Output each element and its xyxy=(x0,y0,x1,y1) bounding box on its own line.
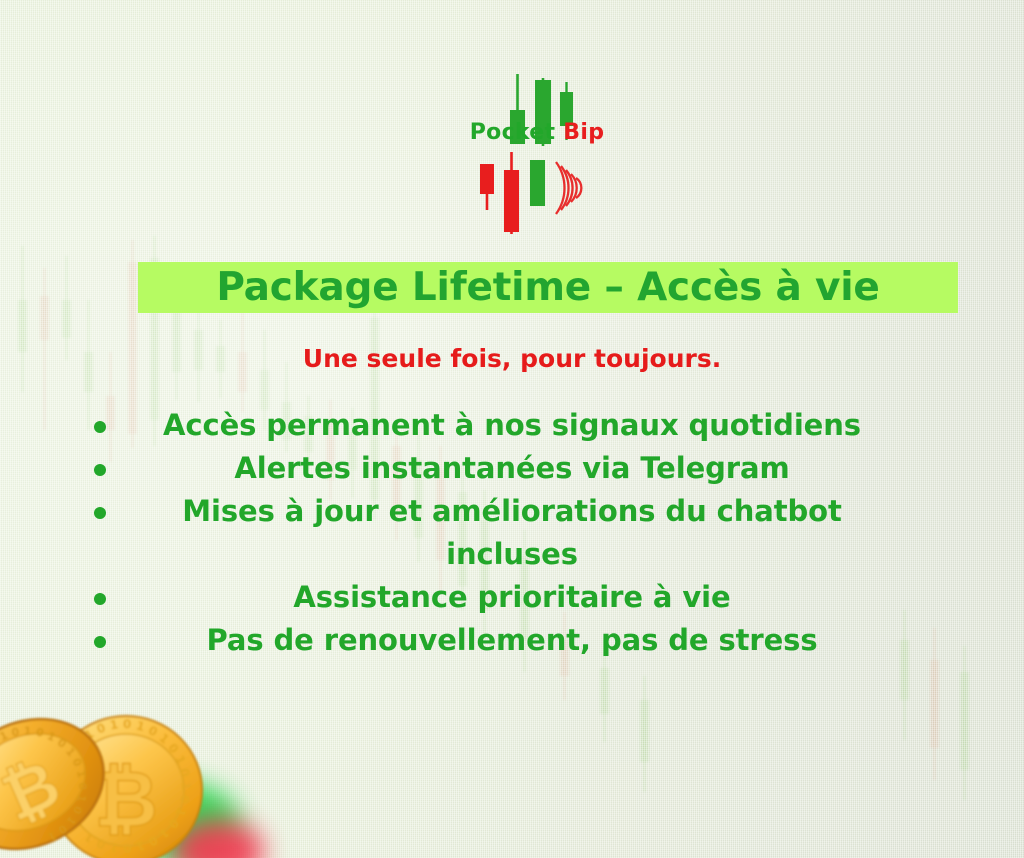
bitcoin-coins: 0 1 0 1 0 1 0 1 0 1 0 1 0 1 0 1 0 1 0 1 … xyxy=(0,668,256,858)
list-item: Accès permanent à nos signaux quotidiens xyxy=(0,404,1024,447)
title-banner: Package Lifetime – Accès à vie xyxy=(138,262,958,313)
candle-body xyxy=(960,672,969,770)
list-item-label: Mises à jour et améliorations du chatbot… xyxy=(132,490,892,576)
page-title: Package Lifetime – Accès à vie xyxy=(216,268,879,307)
list-item-label: Pas de renouvellement, pas de stress xyxy=(207,619,818,662)
list-item-label: Assistance prioritaire à vie xyxy=(293,576,730,619)
pocket-bip-logo: Pocket Bip xyxy=(462,62,612,240)
candle-body xyxy=(640,700,649,762)
candle-body xyxy=(930,660,939,748)
promo-poster: Pocket Bip Package Lifetime – Accès à vi… xyxy=(0,0,1024,858)
bullet-dot-icon xyxy=(94,593,106,605)
logo-word-pocket: Pocket xyxy=(470,120,556,145)
bullet-dot-icon xyxy=(94,464,106,476)
list-item: Mises à jour et améliorations du chatbot… xyxy=(0,490,1024,576)
candle-body xyxy=(40,296,49,340)
bitcoin-coins-graphic: 0 1 0 1 0 1 0 1 0 1 0 1 0 1 0 1 0 1 0 1 … xyxy=(0,668,256,858)
bullet-dot-icon xyxy=(94,507,106,519)
list-item-label: Accès permanent à nos signaux quotidiens xyxy=(163,404,861,447)
bullet-dot-icon xyxy=(94,636,106,648)
list-item: Alertes instantanées via Telegram xyxy=(0,447,1024,490)
subtitle: Une seule fois, pour toujours. xyxy=(0,344,1024,374)
logo-word-bip: Bip xyxy=(563,120,604,145)
bullet-dot-icon xyxy=(94,421,106,433)
signal-waves-icon xyxy=(556,162,581,214)
feature-list: Accès permanent à nos signaux quotidiens… xyxy=(0,404,1024,662)
candle-body xyxy=(62,300,71,338)
list-item: Assistance prioritaire à vie xyxy=(0,576,1024,619)
list-item-label: Alertes instantanées via Telegram xyxy=(234,447,789,490)
logo-candles-graphic xyxy=(462,62,612,240)
logo-bottom-candles xyxy=(480,152,545,234)
candle-body xyxy=(600,668,609,714)
list-item: Pas de renouvellement, pas de stress xyxy=(0,619,1024,662)
logo-wordmark: Pocket Bip xyxy=(462,122,612,144)
